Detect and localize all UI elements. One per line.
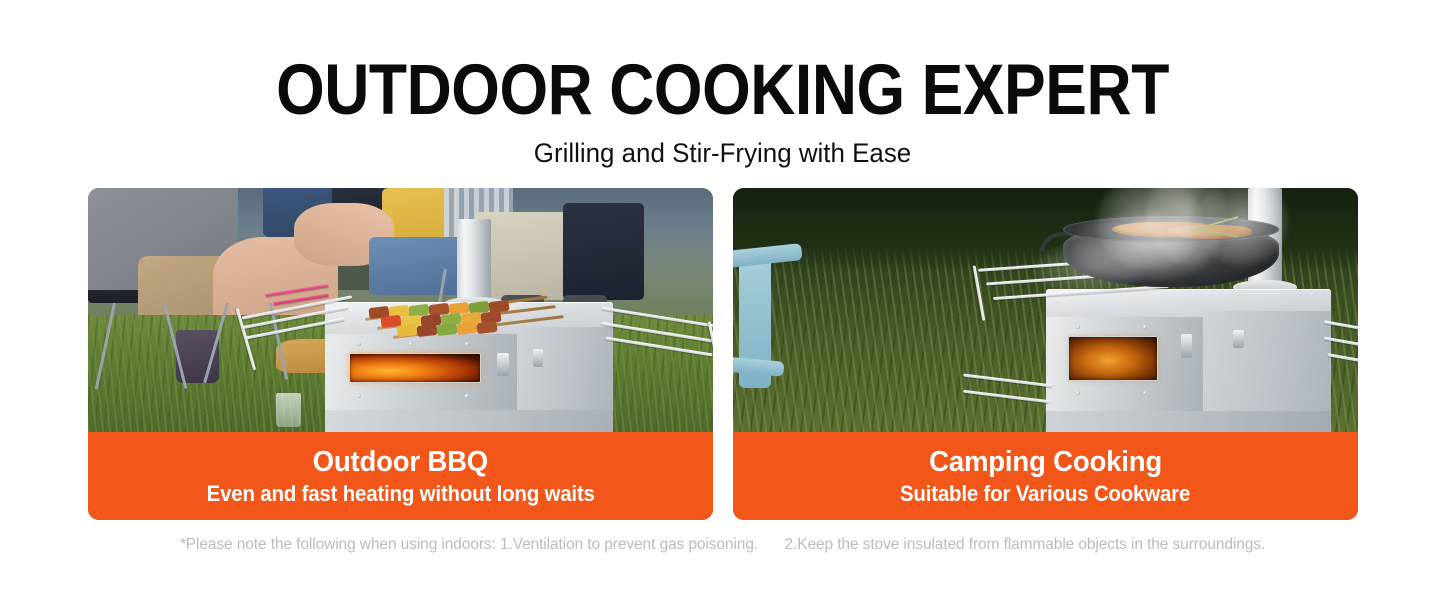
fire-viewing-window — [349, 353, 481, 384]
screw — [1076, 391, 1080, 395]
camping-cooking-photo — [733, 188, 1358, 432]
outdoor-bbq-caption: Outdoor BBQ Even and fast heating withou… — [88, 432, 713, 520]
banner-header: OUTDOOR COOKING EXPERT Grilling and Stir… — [0, 0, 1445, 169]
fire-viewing-window — [1068, 336, 1158, 381]
door-latch — [497, 353, 509, 376]
ash-drawer — [1046, 411, 1331, 431]
side-latch — [1233, 330, 1244, 348]
camping-cooking-caption-subtitle: Suitable for Various Cookware — [900, 481, 1190, 507]
camping-cooking-caption: Camping Cooking Suitable for Various Coo… — [733, 432, 1358, 520]
steam-wisp — [1033, 242, 1146, 296]
kebab-pepper — [456, 322, 477, 335]
ash-drawer — [325, 410, 613, 432]
door-latch — [1181, 334, 1192, 359]
outdoor-bbq-photo — [88, 188, 713, 432]
safety-note: *Please note the following when using in… — [0, 534, 1445, 556]
safety-note-part-1: *Please note the following when using in… — [180, 536, 758, 553]
screw — [409, 342, 413, 346]
page-title: OUTDOOR COOKING EXPERT — [87, 54, 1359, 128]
kebab-pepper — [436, 322, 457, 335]
kebab-meat — [476, 321, 497, 334]
screw — [357, 342, 361, 346]
outdoor-bbq-caption-title: Outdoor BBQ — [313, 446, 488, 479]
stove-body-side — [1203, 311, 1331, 424]
product-feature-banner: OUTDOOR COOKING EXPERT Grilling and Stir… — [0, 0, 1445, 592]
glass-tumbler — [276, 393, 301, 427]
side-latch — [533, 349, 543, 367]
camping-cooking-caption-title: Camping Cooking — [929, 446, 1162, 479]
wire-shelf-bar — [1327, 354, 1358, 375]
feature-card-list: Outdoor BBQ Even and fast heating withou… — [88, 188, 1358, 520]
kebab-meat — [416, 323, 437, 336]
chimney-pipe — [457, 219, 491, 302]
wood-stove-bbq — [313, 251, 713, 432]
stove-body-side — [517, 327, 613, 414]
screw — [465, 342, 469, 346]
safety-note-part-2: 2.Keep the stove insulated from flammabl… — [784, 536, 1265, 553]
outdoor-bbq-caption-subtitle: Even and fast heating without long waits — [206, 481, 594, 507]
screw — [1143, 391, 1147, 395]
feature-card-camping-cooking[interactable]: Camping Cooking Suitable for Various Coo… — [733, 188, 1358, 520]
page-subtitle: Grilling and Stir-Frying with Ease — [29, 137, 1416, 169]
feature-card-outdoor-bbq[interactable]: Outdoor BBQ Even and fast heating withou… — [88, 188, 713, 520]
